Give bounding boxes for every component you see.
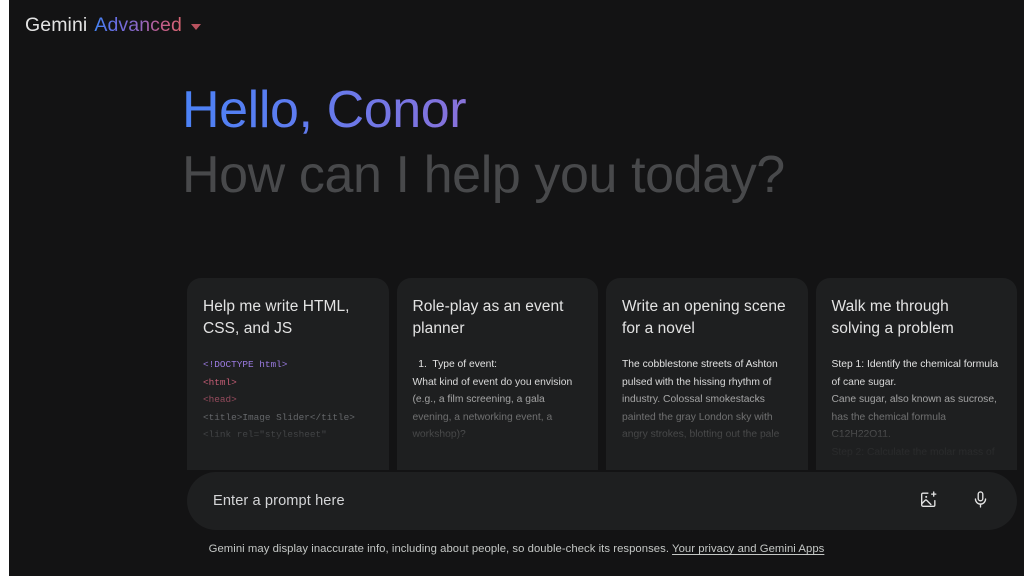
suggestion-card[interactable]: Help me write HTML, CSS, and JS <!DOCTYP…: [187, 278, 389, 470]
suggestion-card-preview: <!DOCTYPE html> <html> <head> <title>Ima…: [203, 356, 373, 444]
screen-root: Gemini Advanced Hello, Conor How can I h…: [0, 0, 1024, 576]
suggestion-card-title: Role-play as an event planner: [413, 296, 583, 340]
greeting-question: How can I help you today?: [182, 142, 982, 208]
model-selector-button[interactable]: Gemini Advanced: [23, 12, 209, 40]
voice-input-button[interactable]: [965, 486, 995, 516]
privacy-link[interactable]: Your privacy and Gemini Apps: [672, 543, 824, 555]
prompt-input[interactable]: [213, 493, 901, 509]
greeting-block: Hello, Conor How can I help you today?: [182, 78, 982, 208]
suggestion-card-title: Write an opening scene for a novel: [622, 296, 792, 340]
suggestion-card-list: Help me write HTML, CSS, and JS <!DOCTYP…: [187, 278, 1017, 470]
suggestion-card[interactable]: Walk me through solving a problem Step 1…: [816, 278, 1018, 470]
microphone-icon: [971, 490, 990, 512]
composer-actions: [913, 486, 995, 516]
code-line: <html>: [203, 374, 373, 392]
suggestion-card[interactable]: Write an opening scene for a novel The c…: [606, 278, 808, 470]
suggestion-card-preview: Step 1: Identify the chemical formula of…: [832, 356, 1002, 462]
app-header: Gemini Advanced: [9, 0, 209, 52]
page-left-margin: [0, 0, 9, 576]
suggestion-card-preview: The cobblestone streets of Ashton pulsed…: [622, 356, 792, 444]
code-line: <title>Image Slider</title>: [203, 409, 373, 427]
suggestion-card-title: Help me write HTML, CSS, and JS: [203, 296, 373, 340]
disclaimer-text: Gemini may display inaccurate info, incl…: [209, 543, 669, 555]
brand-name: Gemini: [25, 16, 87, 36]
gemini-app: Gemini Advanced Hello, Conor How can I h…: [9, 0, 1024, 576]
suggestion-card-preview: 1. Type of event: What kind of event do …: [413, 356, 583, 444]
greeting-salutation: Hello, Conor: [182, 78, 982, 142]
suggestion-card[interactable]: Role-play as an event planner 1. Type of…: [397, 278, 599, 470]
suggestion-card-title: Walk me through solving a problem: [832, 296, 1002, 340]
brand-tier-label: Advanced: [94, 16, 182, 36]
code-line: <!DOCTYPE html>: [203, 356, 373, 374]
add-image-button[interactable]: [913, 486, 943, 516]
disclaimer-bar: Gemini may display inaccurate info, incl…: [9, 543, 1024, 555]
code-line: <head>: [203, 391, 373, 409]
add-image-icon: [919, 490, 938, 512]
chevron-down-icon: [191, 24, 201, 30]
prompt-composer[interactable]: [187, 472, 1017, 530]
code-line: <link rel="stylesheet": [203, 426, 373, 444]
